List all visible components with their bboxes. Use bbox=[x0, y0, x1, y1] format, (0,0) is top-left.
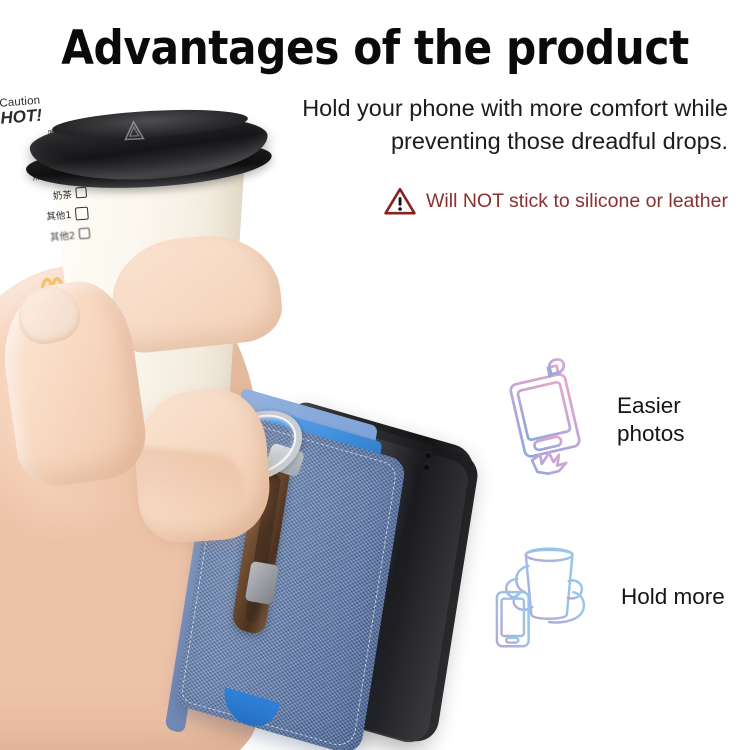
checkbox-icon bbox=[78, 227, 90, 239]
feature-label-line-2: photos bbox=[617, 421, 685, 446]
warning-triangle-icon bbox=[383, 186, 417, 216]
camera-lens-icon bbox=[423, 462, 431, 470]
warning-notice: Will NOT stick to silicone or leather bbox=[383, 186, 728, 216]
feature-label-easier-photos: Easier photos bbox=[617, 392, 685, 448]
subtitle-line-1: Hold your phone with more comfort while bbox=[168, 92, 728, 125]
product-advantages-banner: Caution HOT! 咖啡 豆浆 热巧克力 奶茶 其他1 bbox=[0, 0, 750, 750]
feature-easier-photos: Easier photos bbox=[505, 352, 685, 487]
cup-option-row: 其他1 bbox=[2, 205, 89, 228]
page-subtitle: Hold your phone with more comfort while … bbox=[168, 92, 728, 158]
checkbox-icon bbox=[75, 206, 89, 220]
feature-label-line-1: Easier bbox=[617, 393, 681, 418]
recycle-triangle-icon bbox=[121, 118, 146, 143]
cup-option-label: 其他2 bbox=[49, 227, 75, 243]
checkbox-icon bbox=[75, 187, 87, 199]
feature-label-hold-more: Hold more bbox=[621, 583, 725, 611]
feature-hold-more: Hold more bbox=[495, 538, 725, 655]
cup-option-label: 奶茶 bbox=[52, 186, 72, 201]
cup-option-label: 其他1 bbox=[46, 207, 72, 223]
page-title: Advantages of the product bbox=[56, 22, 695, 76]
warning-label: Will NOT stick to silicone or leather bbox=[426, 190, 728, 213]
subtitle-line-2: preventing those dreadful drops. bbox=[168, 125, 728, 158]
hand-holding-cup-phone-icon bbox=[495, 538, 607, 655]
phone-camera-flash-icon bbox=[505, 352, 595, 487]
cup-option-row: 奶茶 bbox=[0, 184, 87, 207]
camera-lens-icon bbox=[424, 451, 432, 459]
